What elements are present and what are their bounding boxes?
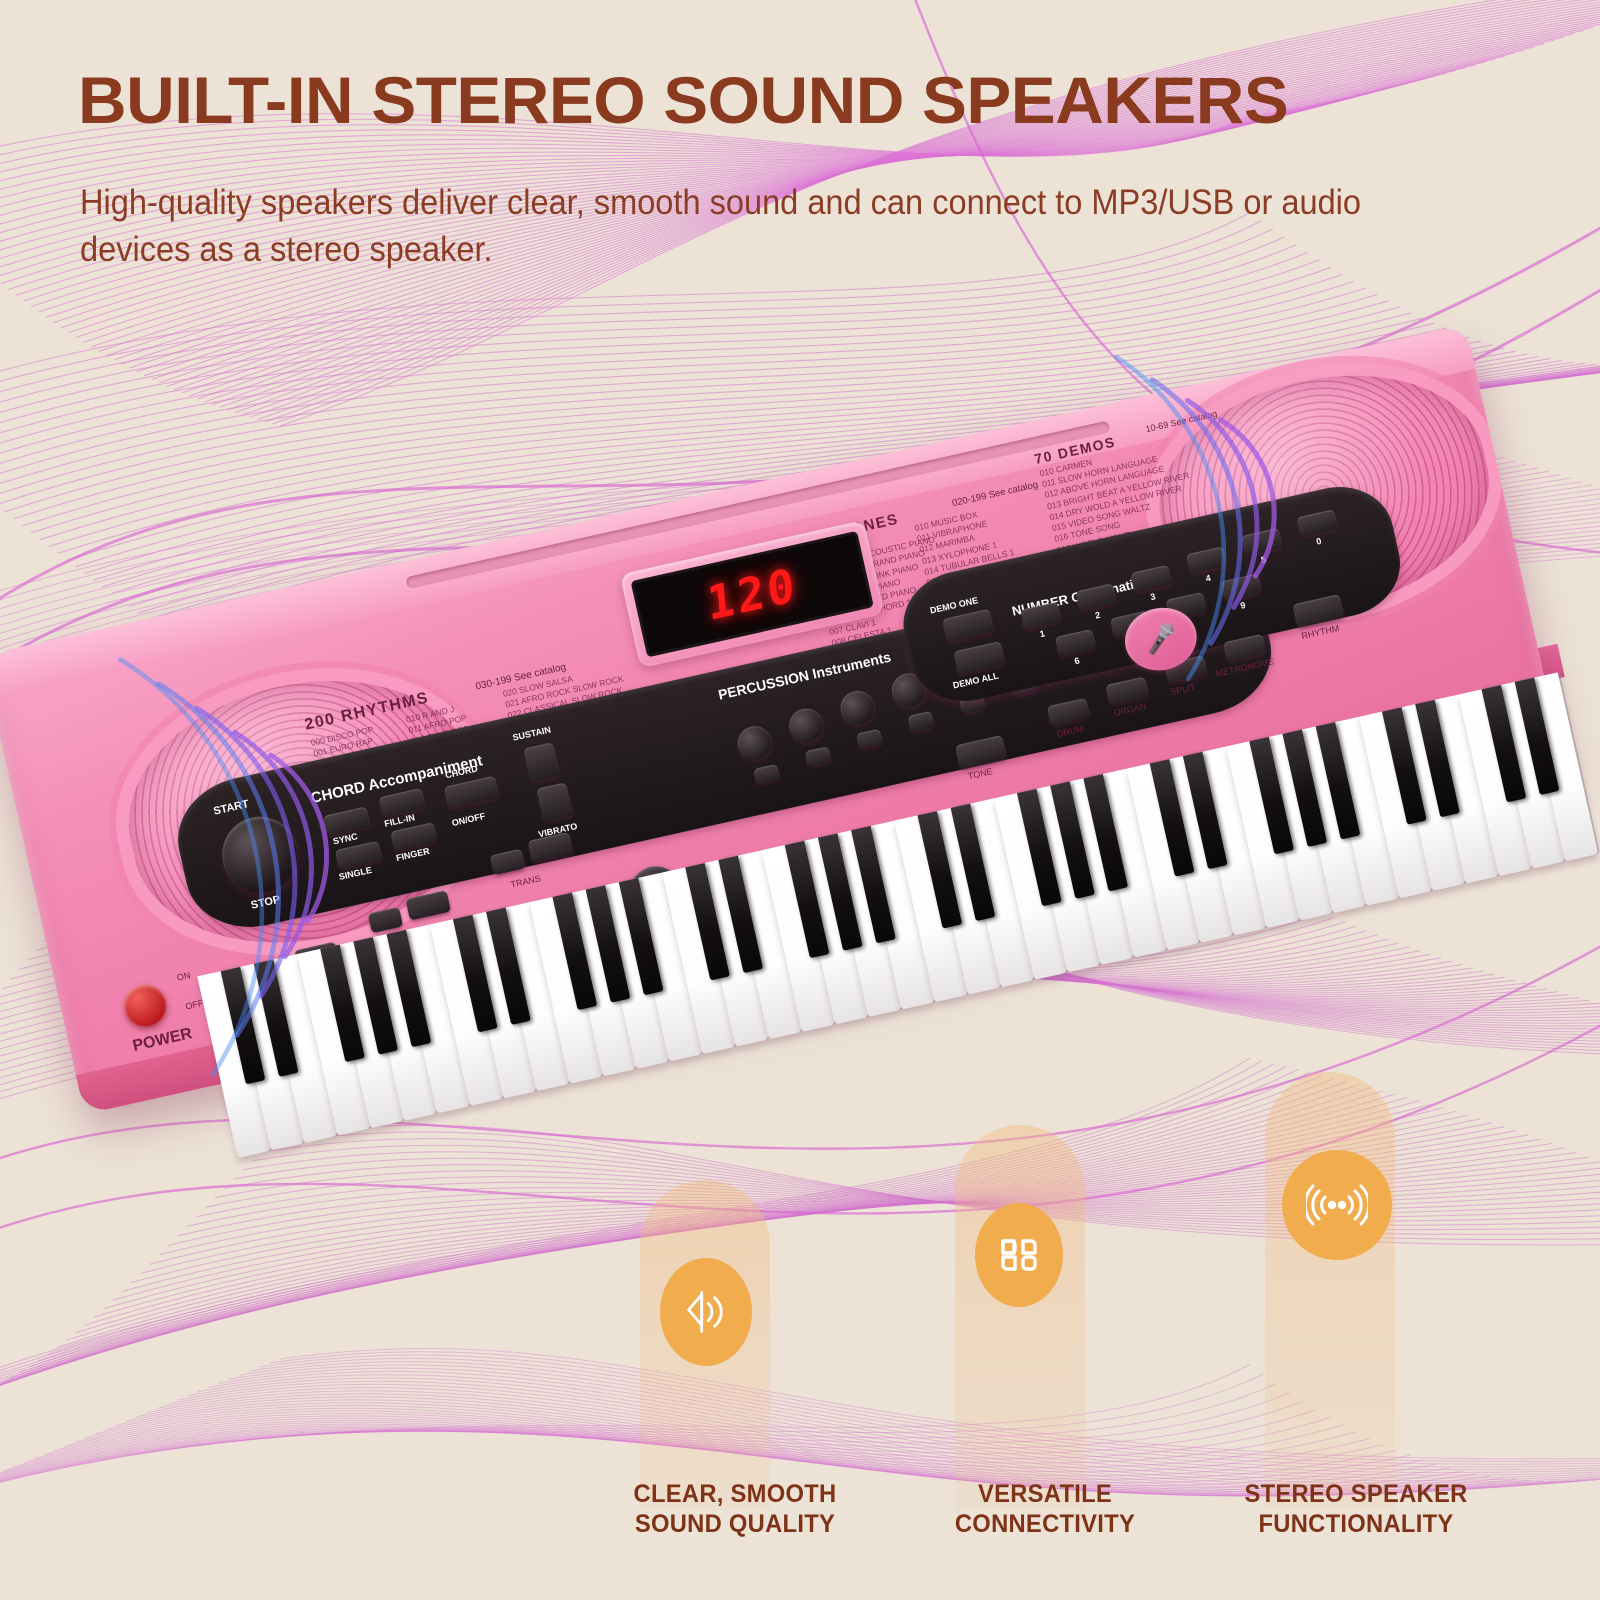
feature-label-2: VERSATILE CONNECTIVITY [903, 1480, 1188, 1539]
finger-button[interactable] [390, 822, 437, 851]
number-key-label-1: 1 [1039, 628, 1046, 639]
number-key-label-4: 4 [1205, 573, 1212, 584]
page-title: BUILT-IN STEREO SOUND SPEAKERS [78, 62, 1288, 138]
trans-label: TRANS [510, 873, 542, 889]
feature-icon-circle-2 [975, 1203, 1063, 1307]
percussion-icon-1[interactable] [753, 764, 780, 785]
percussion-pad-1[interactable] [734, 723, 775, 764]
tempo-value: 120 [705, 557, 800, 631]
fill-in-button[interactable] [379, 788, 426, 817]
feature-icon-circle-3 [1282, 1150, 1392, 1260]
page-subtitle: High-quality speakers deliver clear, smo… [80, 180, 1382, 273]
grid-quadrant-icon [995, 1231, 1043, 1279]
tone-label: TONE [967, 766, 993, 781]
power-off-label: OFF [184, 998, 204, 1012]
sustain-button[interactable] [523, 742, 560, 782]
demo-one-button[interactable] [942, 609, 994, 643]
speaker-sound-icon [680, 1286, 732, 1338]
feature-column-3 [1265, 1072, 1395, 1510]
percussion-pad-3[interactable] [837, 688, 878, 729]
number-key-label-5: 5 [1260, 554, 1267, 565]
percussion-icon-3[interactable] [856, 729, 883, 750]
start-label: START [212, 798, 250, 818]
stop-label: STOP [250, 894, 282, 912]
number-key-9[interactable] [1221, 573, 1262, 601]
percussion-icon-4[interactable] [908, 711, 935, 732]
feature-label-1: CLEAR, SMOOTH SOUND QUALITY [593, 1480, 878, 1539]
percussion-icon-2[interactable] [805, 746, 832, 767]
sustain-label: SUSTAIN [512, 724, 552, 742]
number-key-label-3: 3 [1149, 591, 1156, 602]
number-key-3[interactable] [1131, 565, 1172, 593]
chord-button[interactable] [444, 776, 500, 809]
power-on-label: ON [176, 970, 191, 983]
sync-button[interactable] [323, 806, 370, 835]
feature-column-2 [955, 1125, 1085, 1510]
number-key-5[interactable] [1241, 528, 1282, 556]
number-key-0[interactable] [1297, 509, 1338, 537]
feature-label-3: STEREO SPEAKER FUNCTIONALITY [1204, 1480, 1508, 1539]
stereo-broadcast-icon [1306, 1177, 1368, 1233]
power-button[interactable] [120, 980, 170, 1030]
number-key-6[interactable] [1055, 629, 1096, 657]
number-key-label-0: 0 [1315, 536, 1322, 547]
chord-onoff-label: ON/OFF [451, 811, 486, 828]
number-key-4[interactable] [1186, 546, 1227, 574]
percussion-pad-2[interactable] [786, 705, 827, 746]
vibrato-button[interactable] [536, 782, 573, 822]
number-key-label-2: 2 [1094, 610, 1101, 621]
feature-icon-circle-1 [660, 1258, 752, 1366]
start-stop-dial[interactable] [215, 809, 306, 900]
promo-stage: BUILT-IN STEREO SOUND SPEAKERS High-qual… [0, 0, 1600, 1600]
single-button[interactable] [335, 841, 382, 870]
number-key-label-6: 6 [1074, 655, 1081, 666]
number-key-label-9: 9 [1239, 600, 1246, 611]
